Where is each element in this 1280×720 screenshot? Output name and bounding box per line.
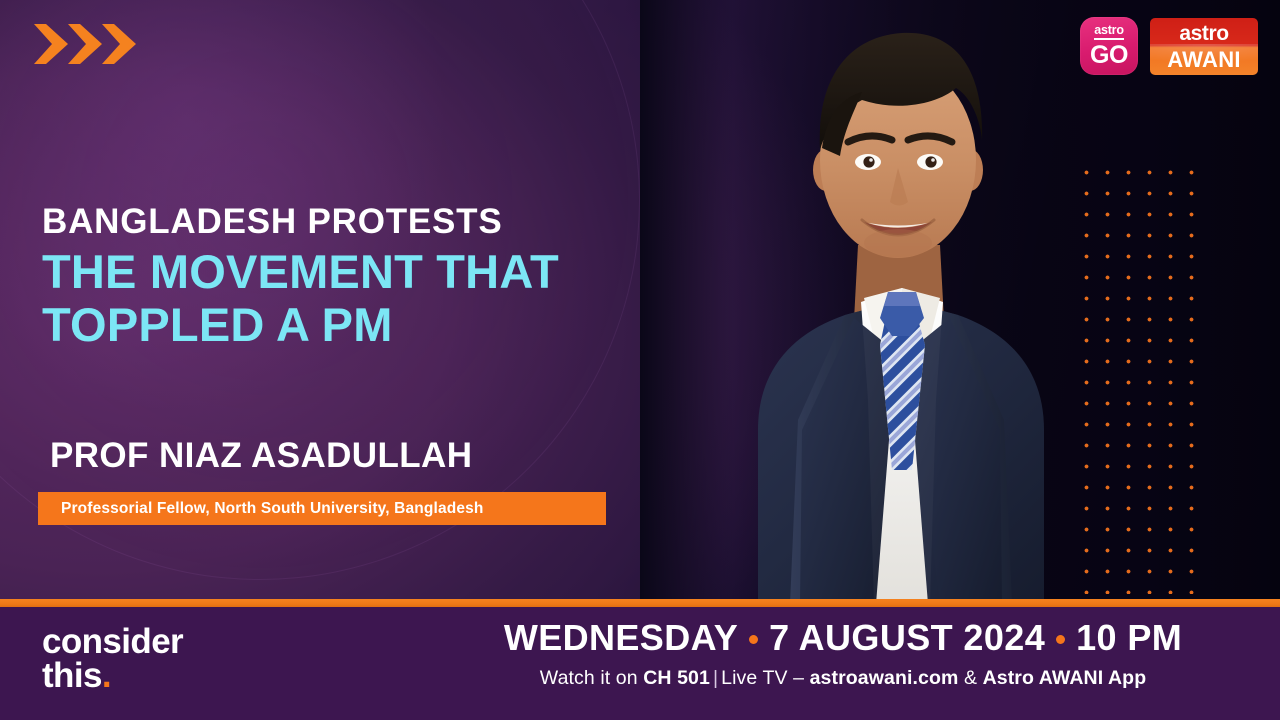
chevron-triple-icon	[30, 20, 140, 68]
headline-line-1: THE MOVEMENT THAT	[42, 246, 682, 299]
astro-awani-wordmark-bottom: AWANI	[1150, 47, 1258, 75]
astro-awani-wordmark-top: astro	[1150, 18, 1258, 47]
guest-name: PROF NIAZ ASADULLAH	[50, 436, 472, 476]
watch-channel: CH 501	[643, 667, 710, 689]
watch-live-label: Live TV	[721, 667, 787, 689]
broadcast-watch-line: Watch it on CH 501|Live TV – astroawani.…	[540, 667, 1146, 690]
show-logo-period: .	[102, 656, 111, 695]
astro-go-wordmark-top: astro	[1094, 24, 1124, 40]
broadcast-time: 10 PM	[1076, 617, 1182, 658]
broadcast-day: WEDNESDAY	[504, 617, 738, 658]
show-logo-line-2: this	[42, 656, 102, 695]
bullet-separator-icon	[749, 635, 758, 644]
broadcast-promo-graphic: astro GO astro AWANI BANGLADESH PROTESTS…	[0, 0, 1280, 720]
broadcast-datetime: WEDNESDAY 7 AUGUST 2024 10 PM	[504, 617, 1182, 658]
broadcast-date: 7 AUGUST 2024	[769, 617, 1045, 658]
watch-pipe-separator: |	[710, 667, 721, 689]
show-logo: consider this.	[42, 625, 183, 692]
guest-title-text: Professorial Fellow, North South Univers…	[61, 500, 484, 518]
astro-go-wordmark-bottom: GO	[1090, 43, 1128, 68]
watch-website[interactable]: astroawani.com	[810, 667, 959, 689]
bullet-separator-icon	[1056, 635, 1065, 644]
brand-logo-row: astro GO astro AWANI	[1080, 17, 1258, 75]
watch-app: Astro AWANI App	[983, 667, 1147, 689]
broadcast-details: WEDNESDAY 7 AUGUST 2024 10 PM Watch it o…	[420, 617, 1266, 690]
orange-divider-rule	[0, 599, 1280, 607]
headline-line-2: TOPPLED A PM	[42, 299, 682, 352]
watch-ampersand: &	[964, 667, 977, 689]
watch-dash: –	[793, 667, 804, 689]
bottom-info-bar: consider this. WEDNESDAY 7 AUGUST 2024 1…	[0, 607, 1280, 720]
presenter-photo	[640, 0, 1160, 604]
headline-kicker: BANGLADESH PROTESTS	[42, 204, 682, 239]
guest-title-banner: Professorial Fellow, North South Univers…	[38, 492, 606, 525]
watch-prefix: Watch it on	[540, 667, 638, 689]
headline-block: BANGLADESH PROTESTS THE MOVEMENT THAT TO…	[42, 204, 682, 351]
headline-title: THE MOVEMENT THAT TOPPLED A PM	[42, 246, 682, 351]
show-logo-line-2-wrap: this.	[42, 659, 183, 693]
show-logo-line-1: consider	[42, 625, 183, 659]
astro-go-logo[interactable]: astro GO	[1080, 17, 1138, 75]
astro-awani-logo[interactable]: astro AWANI	[1150, 18, 1258, 75]
